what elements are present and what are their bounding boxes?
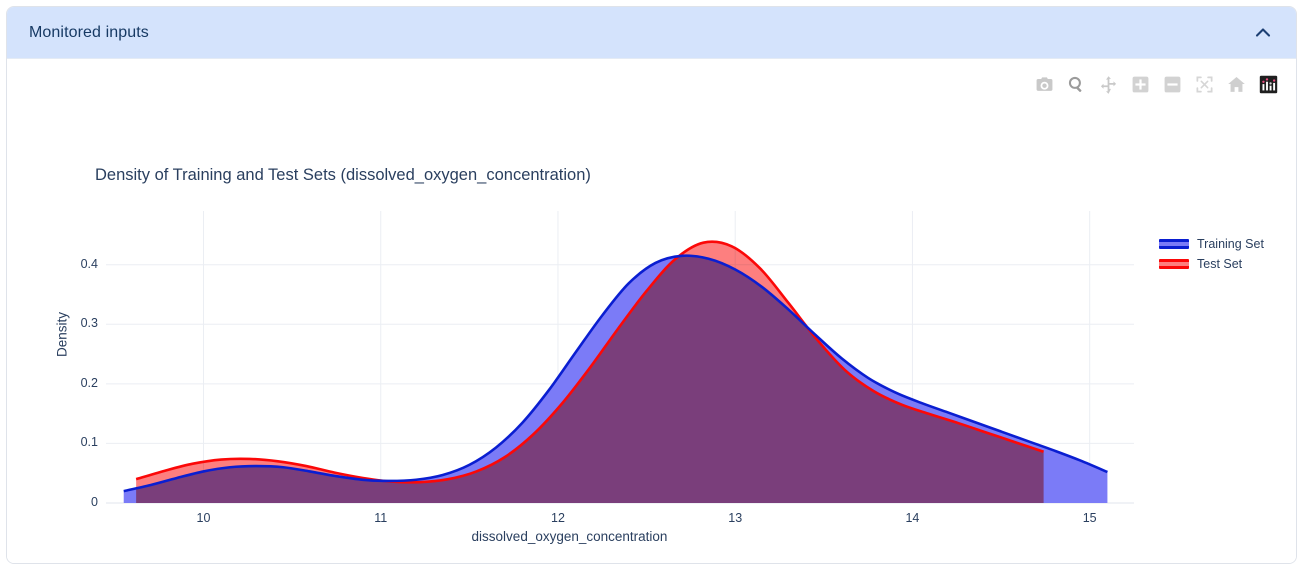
x-axis-title: dissolved_oxygen_concentration — [7, 529, 1132, 544]
card-body: Density of Training and Test Sets (disso… — [7, 59, 1296, 564]
page-title: Monitored inputs — [29, 24, 149, 42]
legend-label-training: Training Set — [1197, 237, 1264, 251]
legend-swatch-training — [1159, 239, 1189, 249]
x-tick-label: 12 — [533, 511, 583, 525]
y-tick-label: 0.3 — [58, 316, 98, 330]
legend-item-test-set[interactable]: Test Set — [1159, 257, 1264, 271]
chart-title: Density of Training and Test Sets (disso… — [95, 166, 591, 185]
plot-canvas[interactable] — [7, 59, 1297, 564]
x-tick-label: 13 — [710, 511, 760, 525]
density-plot: Density of Training and Test Sets (disso… — [7, 59, 1297, 564]
card-header: Monitored inputs — [7, 7, 1296, 59]
y-tick-label: 0 — [58, 495, 98, 509]
y-tick-label: 0.1 — [58, 435, 98, 449]
chevron-up-icon[interactable] — [1248, 18, 1278, 48]
x-tick-label: 10 — [178, 511, 228, 525]
screenshot-root: Monitored inputs — [0, 0, 1305, 571]
monitored-inputs-card: Monitored inputs — [6, 6, 1297, 564]
legend-swatch-test — [1159, 259, 1189, 269]
x-tick-label: 14 — [887, 511, 937, 525]
y-tick-label: 0.4 — [58, 257, 98, 271]
x-tick-label: 11 — [356, 511, 406, 525]
legend-item-training-set[interactable]: Training Set — [1159, 237, 1264, 251]
chart-legend: Training Set Test Set — [1159, 237, 1264, 271]
legend-label-test: Test Set — [1197, 257, 1242, 271]
x-tick-label: 15 — [1065, 511, 1115, 525]
y-tick-label: 0.2 — [58, 376, 98, 390]
